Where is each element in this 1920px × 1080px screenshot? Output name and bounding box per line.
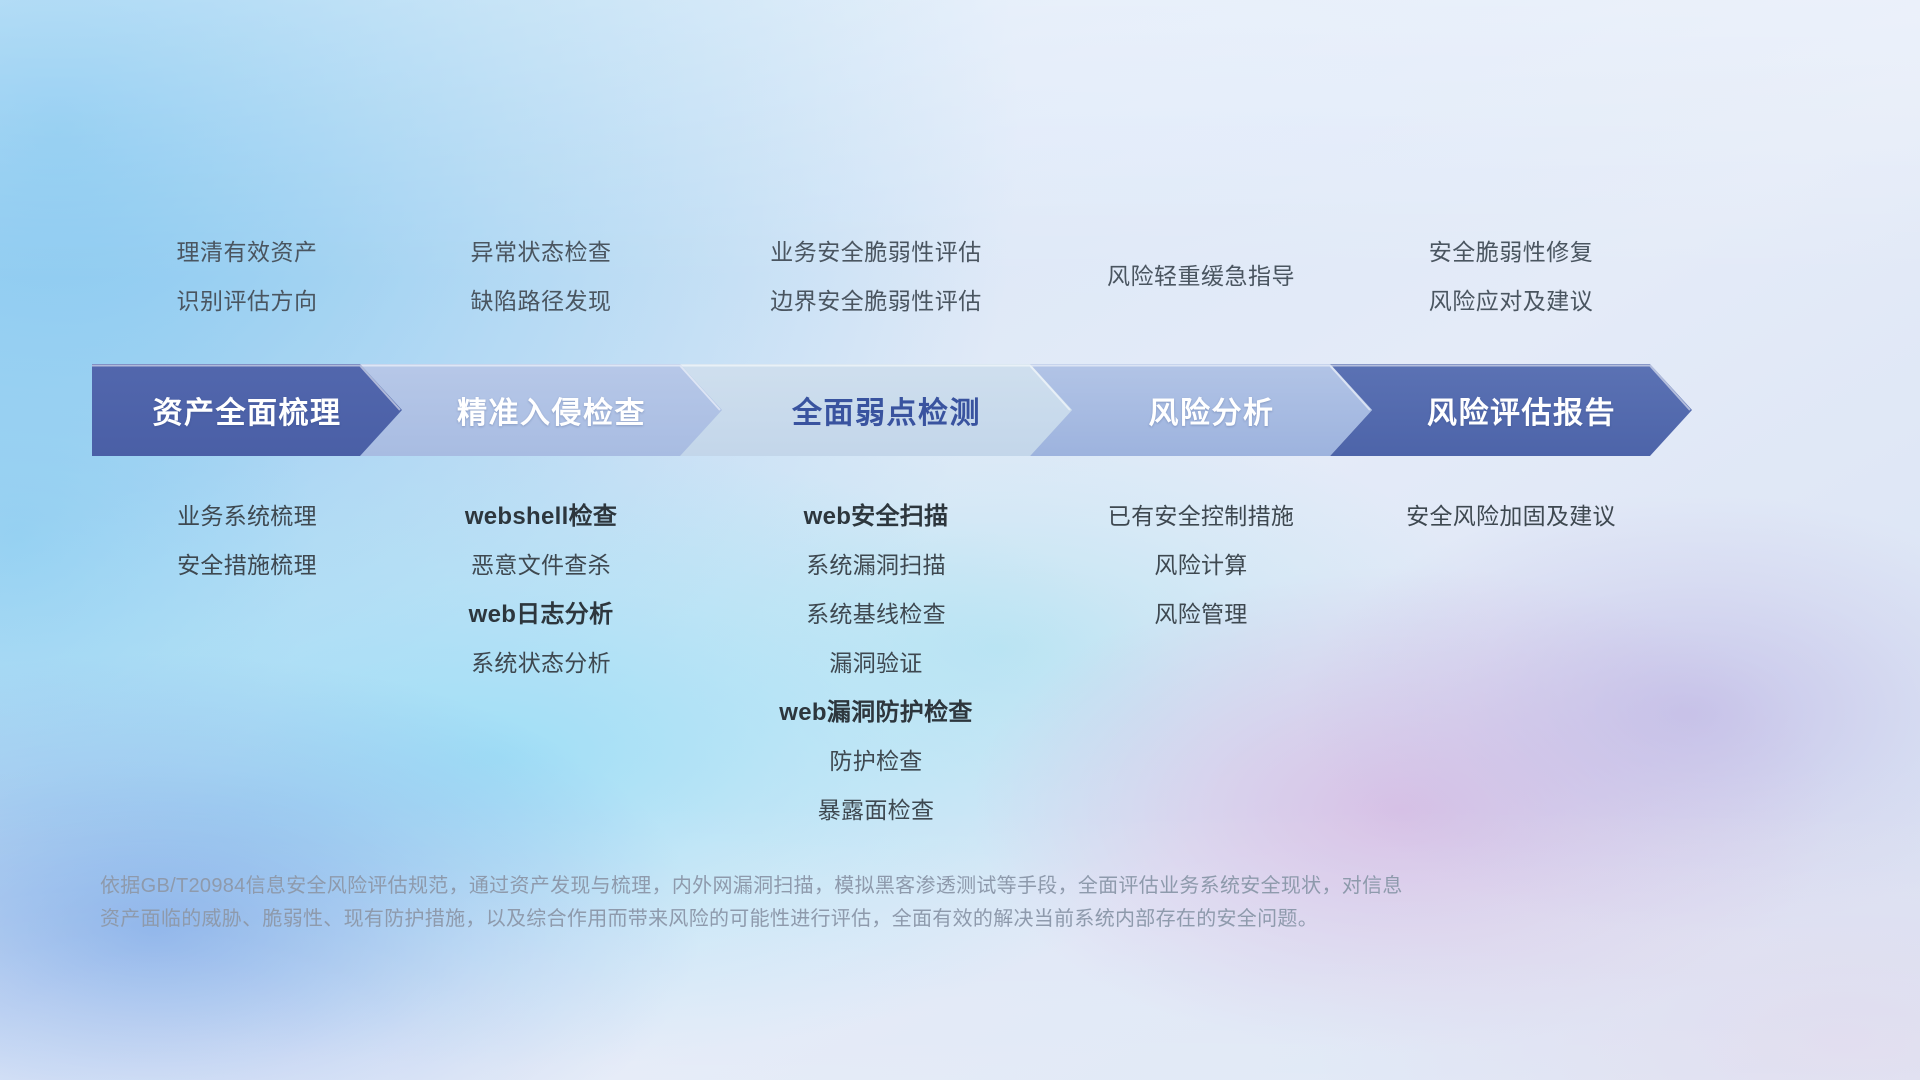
bottom-activity-text: 防护检查 (829, 737, 922, 786)
top-outcome-text: 理清有效资产 (177, 228, 318, 277)
bottom-activity-text: 已有安全控制措施 (1108, 492, 1294, 541)
top-outcome-text: 风险轻重缓急指导 (1107, 252, 1295, 301)
top-outcome-text: 风险应对及建议 (1429, 277, 1594, 326)
chevron-stage-label: 风险分析 (1149, 388, 1275, 432)
footer-description: 依据GB/T20984信息安全风险评估规范，通过资产发现与梳理，内外网漏洞扫描，… (100, 870, 1660, 936)
top-outcome-text: 识别评估方向 (177, 277, 318, 326)
top-outcome-text: 异常状态检查 (471, 228, 612, 277)
bottom-activity-text: 安全措施梳理 (177, 541, 317, 590)
bottom-activity-text: 风险管理 (1154, 590, 1247, 639)
top-outcome-column-risk-report: 安全脆弱性修复风险应对及建议 (1281, 228, 1741, 326)
top-outcome-text: 业务安全脆弱性评估 (770, 228, 982, 277)
chevron-stage-label: 资产全面梳理 (153, 388, 342, 432)
bottom-activity-text: 安全风险加固及建议 (1406, 492, 1616, 541)
top-outcome-text: 缺陷路径发现 (471, 277, 612, 326)
bottom-activity-text: 恶意文件查杀 (471, 541, 611, 590)
chevron-stage-label: 精准入侵检查 (457, 388, 646, 432)
chevron-stage-label: 风险评估报告 (1427, 388, 1616, 432)
bottom-activity-text: 业务系统梳理 (177, 492, 317, 541)
bottom-activity-text: webshell检查 (465, 492, 617, 541)
footer-line-1: 依据GB/T20984信息安全风险评估规范，通过资产发现与梳理，内外网漏洞扫描，… (100, 870, 1660, 903)
process-chevron-band: 资产全面梳理精准入侵检查全面弱点检测风险分析风险评估报告 (92, 364, 1840, 456)
footer-line-2: 资产面临的威胁、脆弱性、现有防护措施，以及综合作用而带来风险的可能性进行评估，全… (100, 903, 1660, 936)
chevron-stage-weakness-detection[interactable]: 全面弱点检测 (680, 364, 1072, 456)
bottom-activity-text: web安全扫描 (804, 492, 949, 541)
bottom-activity-text: 系统漏洞扫描 (806, 541, 946, 590)
bottom-activity-text: 系统基线检查 (806, 590, 946, 639)
bottom-activity-text: 系统状态分析 (471, 639, 611, 688)
bottom-activity-text: 漏洞验证 (829, 639, 922, 688)
top-outcome-text: 边界安全脆弱性评估 (770, 277, 982, 326)
chevron-stage-risk-report[interactable]: 风险评估报告 (1330, 364, 1692, 456)
bottom-activity-text: 暴露面检查 (818, 786, 935, 835)
bottom-activity-text: web日志分析 (469, 590, 614, 639)
chevron-stage-asset-inventory[interactable]: 资产全面梳理 (92, 364, 402, 456)
chevron-stage-risk-analysis[interactable]: 风险分析 (1030, 364, 1372, 456)
infographic-canvas: 理清有效资产识别评估方向异常状态检查缺陷路径发现业务安全脆弱性评估边界安全脆弱性… (0, 0, 1920, 1080)
bottom-activity-text: 风险计算 (1154, 541, 1247, 590)
chevron-stage-intrusion-check[interactable]: 精准入侵检查 (360, 364, 722, 456)
top-outcome-text: 安全脆弱性修复 (1429, 228, 1594, 277)
bottom-activity-text: web漏洞防护检查 (779, 688, 972, 737)
bottom-activity-column-risk-report: 安全风险加固及建议 (1281, 492, 1741, 541)
chevron-stage-label: 全面弱点检测 (792, 388, 981, 432)
top-outcomes-row: 理清有效资产识别评估方向异常状态检查缺陷路径发现业务安全脆弱性评估边界安全脆弱性… (96, 228, 1836, 348)
